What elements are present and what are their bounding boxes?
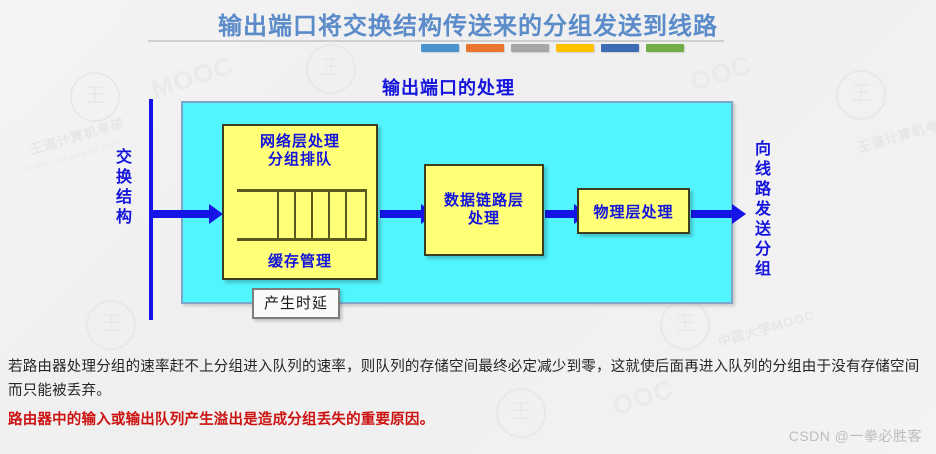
physical-layer-label: 物理层处理 bbox=[593, 201, 673, 222]
network-layer-line-2: 分组排队 bbox=[224, 151, 376, 169]
queue-divider bbox=[328, 189, 330, 241]
brand-watermark-2: 王道计算机考研 bbox=[855, 111, 936, 156]
network-layer-processing-box: 网络层处理 分组排队 缓存管理 bbox=[222, 124, 378, 280]
brand-seal-watermark-3: 王 bbox=[836, 70, 886, 120]
brand-watermark: 王道计算机考研 bbox=[27, 113, 126, 158]
decor-bar-1 bbox=[421, 44, 459, 52]
brand-seal-watermark-5: 王 bbox=[86, 300, 136, 350]
decor-bar-2 bbox=[466, 44, 504, 52]
arrow-network-to-datalink-icon bbox=[380, 210, 422, 218]
mooc-watermark-2: OOC bbox=[687, 49, 756, 98]
queue-divider bbox=[294, 189, 296, 241]
slide-canvas: 王 王道计算机考研 www.cskaoyan.com 王 MOOC OOC 王 … bbox=[0, 0, 936, 454]
switch-fabric-label: 交换结构 bbox=[113, 148, 129, 228]
brand-seal-watermark-2: 王 bbox=[306, 44, 356, 94]
datalink-layer-line-1: 数据链路层 bbox=[444, 192, 524, 210]
arrow-into-network-layer-icon bbox=[152, 210, 210, 218]
arrow-datalink-to-physical-icon bbox=[545, 210, 575, 218]
queue-divider bbox=[311, 189, 313, 241]
packet-queue-graphic bbox=[237, 189, 367, 241]
arrow-physical-to-line-icon bbox=[691, 210, 733, 218]
csdn-credit-watermark: CSDN @一拳必胜客 bbox=[789, 426, 922, 446]
physical-layer-processing-box: 物理层处理 bbox=[577, 188, 690, 234]
datalink-layer-line-2: 处理 bbox=[444, 210, 524, 228]
datalink-layer-processing-box: 数据链路层 处理 bbox=[424, 164, 544, 256]
diagram-subtitle: 输出端口的处理 bbox=[382, 74, 515, 100]
brand-seal-watermark: 王 bbox=[70, 72, 120, 122]
decor-bar-3 bbox=[511, 44, 549, 52]
network-layer-line-1: 网络层处理 bbox=[224, 133, 376, 151]
buffer-management-caption: 缓存管理 bbox=[224, 250, 376, 271]
decor-bar-6 bbox=[646, 44, 684, 52]
mooc-watermark: MOOC bbox=[147, 50, 237, 106]
page-title: 输出端口将交换结构传送来的分组发送到线路 bbox=[0, 6, 936, 41]
queue-end-edge bbox=[365, 189, 367, 241]
explanation-paragraph: 若路由器处理分组的速率赶不上分组进入队列的速率，则队列的存储空间最终必定减少到零… bbox=[8, 356, 928, 404]
delay-callout-box: 产生时延 bbox=[252, 288, 340, 319]
brand-seal-watermark-4: 王 bbox=[660, 300, 710, 350]
univ-watermark-2: 中国大学MOOC bbox=[715, 305, 817, 351]
decor-bar-4 bbox=[556, 44, 594, 52]
queue-divider bbox=[277, 189, 279, 241]
decor-bar-5 bbox=[601, 44, 639, 52]
site-watermark: www.cskaoyan.com bbox=[25, 136, 125, 174]
decorative-color-bars bbox=[421, 44, 684, 52]
send-to-line-label: 向线路发送分组 bbox=[752, 140, 768, 280]
queue-divider bbox=[345, 189, 347, 241]
